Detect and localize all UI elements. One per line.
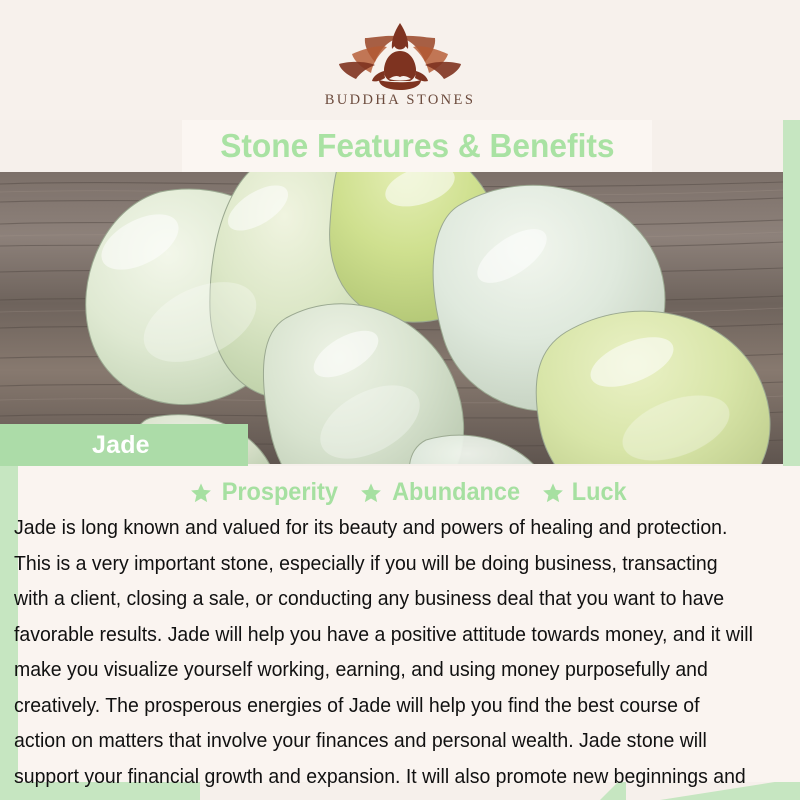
- infographic-card: BUDDHA STONES Stone Features & Benefits: [0, 0, 800, 800]
- brand-logo: BUDDHA STONES: [325, 18, 476, 109]
- benefit-label: Prosperity: [222, 478, 338, 507]
- star-icon: [542, 482, 564, 504]
- benefit-item: Abundance: [360, 478, 524, 507]
- star-icon: [360, 482, 382, 504]
- benefit-item: Prosperity: [190, 478, 342, 507]
- brand-header: BUDDHA STONES: [0, 0, 800, 120]
- star-icon: [190, 482, 212, 504]
- benefits-row: Prosperity Abundance Luck: [18, 478, 800, 507]
- lotus-meditation-logo-icon: [325, 18, 475, 90]
- brand-name: BUDDHA STONES: [325, 92, 476, 109]
- benefit-label: Abundance: [392, 478, 520, 507]
- stone-name: Jade: [92, 431, 150, 460]
- benefit-item: Luck: [542, 478, 628, 507]
- stone-name-banner: Jade: [0, 424, 248, 466]
- page-title: Stone Features & Benefits: [220, 127, 614, 165]
- stone-photo-image: [0, 172, 783, 464]
- title-banner: Stone Features & Benefits: [182, 120, 652, 172]
- stone-description: Jade is long known and valued for its be…: [14, 511, 755, 800]
- stone-photo: [0, 172, 783, 464]
- benefit-label: Luck: [571, 478, 626, 507]
